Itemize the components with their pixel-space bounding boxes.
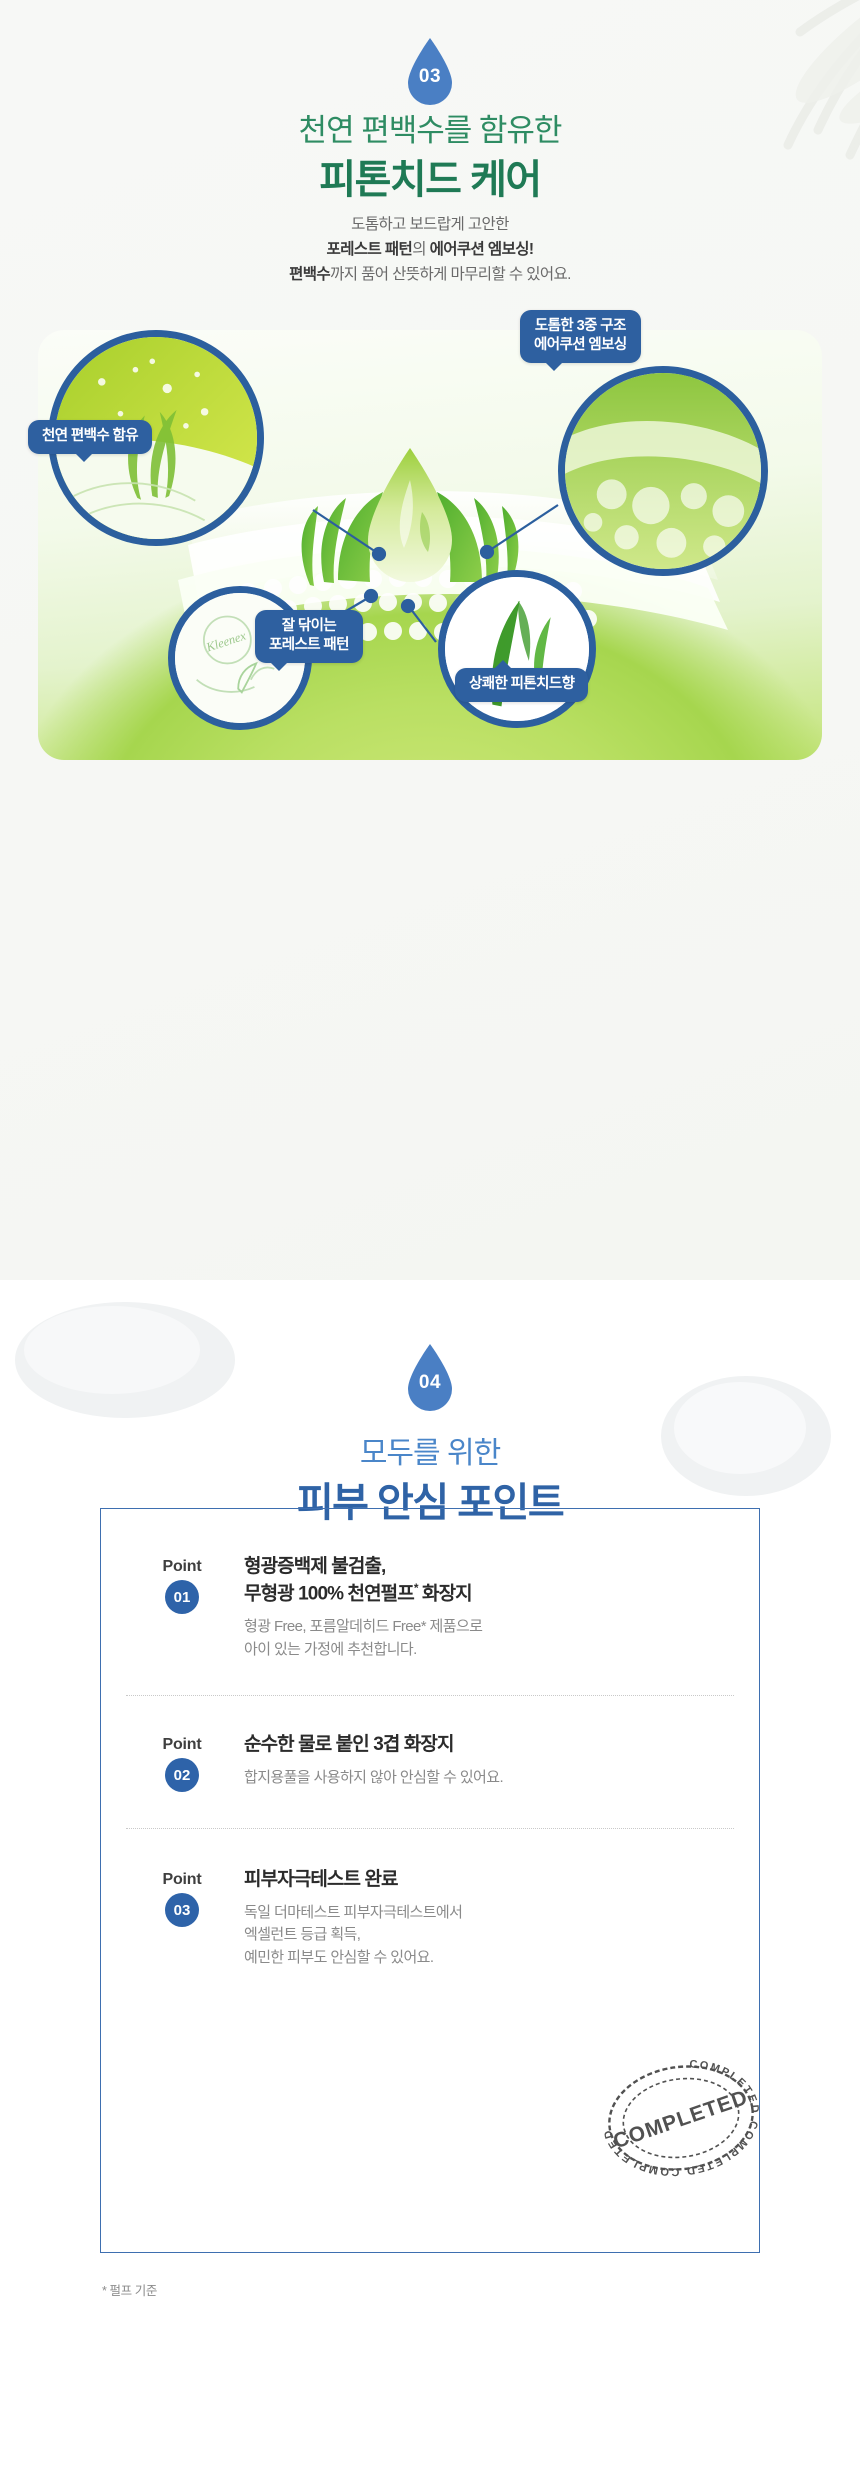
- desc-rest-1: 의: [412, 241, 429, 258]
- point-title-02: 순수한 물로 붙인 3겹 화장지: [244, 1732, 734, 1758]
- point-title-line2: 무형광 100% 천연펄프: [244, 1584, 414, 1605]
- point-body-02: 순수한 물로 붙인 3겹 화장지 합지용풀을 사용하지 않아 안심할 수 있어요…: [238, 1732, 734, 1792]
- point-title-01: 형광증백제 불검출,무형광 100% 천연펄프* 화장지: [244, 1554, 734, 1608]
- footnote: * 펄프 기준: [102, 2280, 157, 2299]
- desc-line-1: 도톰하고 보드랍게 고안한: [0, 212, 860, 237]
- point-item-01: Point 01 형광증백제 불검출,무형광 100% 천연펄프* 화장지 형광…: [100, 1508, 760, 1695]
- section03-description: 도톰하고 보드랍게 고안한 포레스트 패턴의 에어쿠션 엠보싱! 편백수까지 품…: [0, 212, 860, 287]
- circle-air-cushion-embossing: [558, 366, 768, 576]
- point-label-03: Point 03: [126, 1867, 238, 1970]
- point-body-01: 형광증백제 불검출,무형광 100% 천연펄프* 화장지 형광 Free, 포름…: [238, 1554, 734, 1661]
- completed-stamp-icon: COMPLETED COMPLETED COMPLETED COMPLETED: [583, 2038, 778, 2197]
- point-item-03: Point 03 피부자극테스트 완료 독일 더마테스트 피부자극테스트에서 엑…: [100, 1829, 760, 2000]
- section04-heading-sub: 모두를 위한: [0, 1428, 860, 1472]
- desc-bold-water: 편백수: [289, 266, 330, 283]
- water-blob-decoration-left: [10, 1290, 240, 1430]
- circle-phytoncide-scent: [438, 570, 596, 728]
- point-number: 02: [165, 1758, 199, 1792]
- section03-heading-main: 피톤치드 케어: [0, 147, 860, 205]
- point-desc-01: 형광 Free, 포름알데히드 Free* 제품으로 아이 있는 가정에 추천합…: [244, 1616, 734, 1662]
- step-number: 03: [402, 66, 458, 88]
- points-list: Point 01 형광증백제 불검출,무형광 100% 천연펄프* 화장지 형광…: [100, 1508, 760, 2000]
- point-word: Point: [126, 1871, 238, 1889]
- point-body-03: 피부자극테스트 완료 독일 더마테스트 피부자극테스트에서 엑셀런트 등급 획득…: [238, 1867, 734, 1970]
- desc-line-2: 포레스트 패턴의 에어쿠션 엠보싱!: [0, 237, 860, 262]
- section-skin-safe-points: 04 모두를 위한 피부 안심 포인트 Point 01 형광증백제 불검출,무…: [0, 1280, 860, 2483]
- stamp-center-text: COMPLETED: [610, 2086, 751, 2154]
- point-desc-02: 합지용풀을 사용하지 않아 안심할 수 있어요.: [244, 1767, 734, 1790]
- step-badge-03: 03: [402, 36, 458, 110]
- desc-line-3: 편백수까지 품어 산뜻하게 마무리할 수 있어요.: [0, 262, 860, 287]
- point-item-02: Point 02 순수한 물로 붙인 3겹 화장지 합지용풀을 사용하지 않아 …: [100, 1696, 760, 1828]
- point-title-line1: 형광증백제 불검출,: [244, 1556, 385, 1577]
- callout-natural-cypress-water: 천연 편백수 함유: [28, 420, 152, 454]
- callout-triple-layer-embossing: 도톰한 3중 구조 에어쿠션 엠보싱: [520, 310, 641, 363]
- point-label-01: Point 01: [126, 1554, 238, 1661]
- point-label-02: Point 02: [126, 1732, 238, 1792]
- section03-heading-sub: 천연 편백수를 함유한: [0, 105, 860, 150]
- callout-phytoncide-scent: 상쾌한 피톤치드향: [455, 668, 588, 702]
- desc-bold-forest: 포레스트 패턴: [327, 241, 413, 258]
- point-title-tail: 화장지: [418, 1584, 472, 1605]
- desc-rest-2: 까지 품어 산뜻하게 마무리할 수 있어요.: [330, 266, 571, 283]
- point-number: 01: [165, 1580, 199, 1614]
- step-badge-04: 04: [402, 1342, 458, 1416]
- product-illustration: Kleenex: [38, 330, 822, 760]
- product-detail-page: 03 천연 편백수를 함유한 피톤치드 케어 도톰하고 보드랍게 고안한 포레스…: [0, 0, 860, 2483]
- point-title-03: 피부자극테스트 완료: [244, 1867, 734, 1893]
- point-desc-03: 독일 더마테스트 피부자극테스트에서 엑셀런트 등급 획득, 예민한 피부도 안…: [244, 1902, 734, 1970]
- section-phytoncide-care: 03 천연 편백수를 함유한 피톤치드 케어 도톰하고 보드랍게 고안한 포레스…: [0, 0, 860, 1280]
- step-number: 04: [402, 1372, 458, 1394]
- point-number: 03: [165, 1893, 199, 1927]
- callout-forest-pattern: 잘 닦이는 포레스트 패턴: [255, 610, 363, 663]
- desc-bold-embossing: 에어쿠션 엠보싱!: [430, 241, 534, 258]
- point-word: Point: [126, 1736, 238, 1754]
- point-word: Point: [126, 1558, 238, 1576]
